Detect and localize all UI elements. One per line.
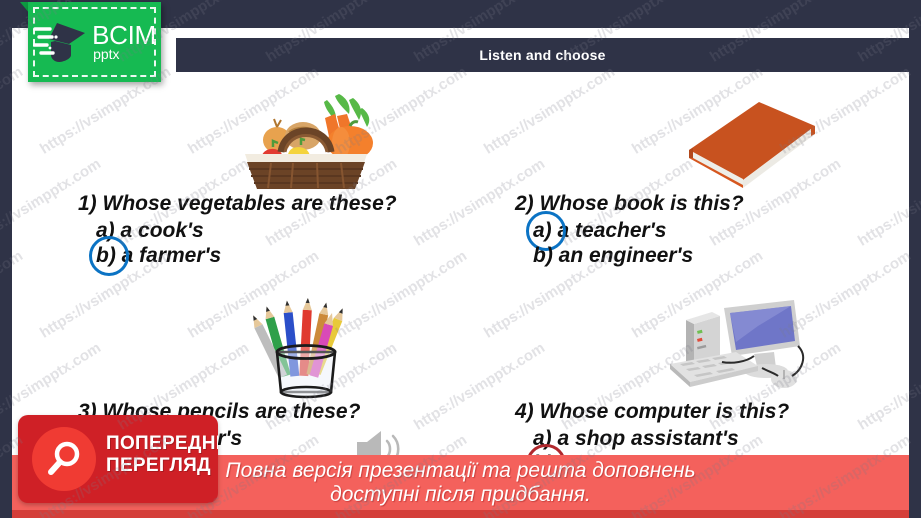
book-image (515, 84, 915, 192)
slide-header-bar: Listen and choose (176, 38, 909, 72)
desktop-computer-image (515, 292, 915, 400)
option-label: a) a teacher's (533, 219, 666, 242)
slide-canvas: Listen and choose (0, 0, 921, 518)
banner-base-strip (12, 510, 909, 518)
page-title: Listen and choose (479, 47, 605, 63)
question-column-right: 2) Whose book is this? a) a teacher's b)… (515, 84, 915, 478)
question-block-4: 4) Whose computer is this? a) a shop ass… (515, 292, 915, 477)
question-option-selected[interactable]: b) a farmer's (96, 244, 221, 267)
preview-badge: ПОПЕРЕДНІЙ ПЕРЕГЛЯД (18, 415, 218, 503)
question-option[interactable]: b) an engineer's (533, 244, 693, 267)
option-label: b) a farmer's (96, 244, 221, 267)
magnifier-icon (32, 427, 96, 491)
preview-label-line-2: ПЕРЕГЛЯД (106, 455, 218, 477)
banner-line-2: доступні після придбання. (330, 483, 591, 507)
question-prompt: 2) Whose book is this? (515, 192, 915, 215)
question-prompt: 1) Whose vegetables are these? (78, 192, 498, 215)
banner-line-1: Повна версія презентації та решта доповн… (225, 459, 695, 483)
question-option[interactable]: a) a cook's (96, 219, 204, 242)
question-block-2: 2) Whose book is this? a) a teacher's b)… (515, 84, 915, 269)
question-block-1: 1) Whose vegetables are these? a) a cook… (78, 84, 498, 269)
logo-name: BCIM (92, 23, 156, 48)
preview-badge-label: ПОПЕРЕДНІЙ ПЕРЕГЛЯД (106, 433, 218, 478)
brand-logo: BCIM pptx (28, 2, 161, 82)
logo-subname: pptx (93, 48, 119, 61)
option-label: b) an engineer's (533, 244, 693, 267)
graduation-cap-icon (33, 17, 89, 70)
vegetable-basket-image (78, 84, 498, 192)
question-option[interactable]: a) a shop assistant's (533, 427, 739, 450)
option-label: a) a shop assistant's (533, 427, 739, 450)
colored-pencils-image (78, 292, 498, 400)
question-prompt: 4) Whose computer is this? (515, 400, 915, 423)
preview-label-line-1: ПОПЕРЕДНІЙ (106, 433, 218, 455)
option-label: a) a cook's (96, 219, 204, 242)
question-option-selected[interactable]: a) a teacher's (533, 219, 666, 242)
